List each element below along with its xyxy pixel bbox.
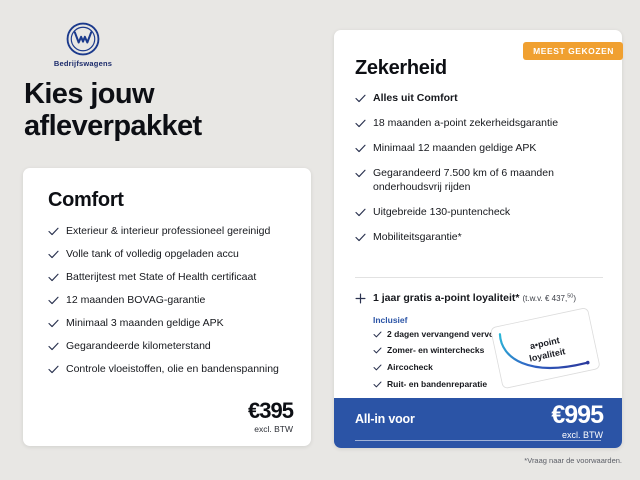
list-item: Uitgebreide 130-puntencheck: [355, 206, 605, 220]
loyalty-title-row: 1 jaar gratis a-point loyaliteit*(t.w.v.…: [355, 292, 607, 306]
plus-icon: [355, 293, 366, 304]
brand-sub-label: Bedrijfswagens: [33, 59, 133, 68]
comfort-package-card[interactable]: Comfort Exterieur & interieur profession…: [23, 168, 311, 446]
included-label-item: Zomer- en winterchecks: [387, 345, 484, 355]
zekerheid-card-title: Zekerheid: [355, 57, 447, 80]
check-icon: [355, 144, 366, 153]
page-title-line1: Kies jouw: [24, 78, 314, 110]
footer-rule: [355, 440, 601, 441]
check-icon: [355, 169, 366, 178]
zekerheid-price-note: excl. BTW: [551, 430, 603, 440]
list-item: Minimaal 3 maanden geldige APK: [48, 317, 288, 331]
list-item: Batterijtest met State of Health certifi…: [48, 271, 288, 285]
feature-label: 12 maanden BOVAG-garantie: [66, 294, 205, 306]
list-item: Gegarandeerd 7.500 km of 6 maanden onder…: [355, 167, 605, 195]
page-title: Kies jouw afleverpakket: [24, 78, 314, 143]
feature-label: Uitgebreide 130-puntencheck: [373, 206, 510, 218]
list-item: Volle tank of volledig opgeladen accu: [48, 248, 288, 262]
included-label-item: Ruit- en bandenreparatie: [387, 379, 487, 389]
feature-label: Minimaal 3 maanden geldige APK: [66, 317, 224, 329]
check-icon: [373, 364, 382, 371]
list-item: 18 maanden a-point zekerheidsgarantie: [355, 117, 605, 131]
check-icon: [355, 119, 366, 128]
included-label-item: Aircocheck: [387, 362, 433, 372]
feature-label: Mobiliteitsgarantie*: [373, 231, 462, 243]
check-icon: [373, 347, 382, 354]
zekerheid-feature-list: Alles uit Comfort 18 maanden a-point zek…: [355, 92, 605, 256]
check-icon: [48, 319, 59, 328]
list-item: Mobiliteitsgarantie*: [355, 231, 605, 245]
check-icon: [48, 365, 59, 374]
zekerheid-price-block: €995 excl. BTW: [551, 403, 603, 440]
list-item: Minimaal 12 maanden geldige APK: [355, 142, 605, 156]
check-icon: [48, 273, 59, 282]
feature-label: Minimaal 12 maanden geldige APK: [373, 142, 536, 154]
check-icon: [355, 233, 366, 242]
comfort-price-note: excl. BTW: [248, 424, 293, 434]
list-item: 12 maanden BOVAG-garantie: [48, 294, 288, 308]
list-item: Gegarandeerde kilometerstand: [48, 340, 288, 354]
feature-label: Gegarandeerd 7.500 km of 6 maanden onder…: [373, 167, 554, 193]
section-divider: [355, 277, 603, 278]
list-item: Controle vloeistoffen, olie en bandenspa…: [48, 363, 288, 377]
check-icon: [355, 94, 366, 103]
zekerheid-package-card[interactable]: MEEST GEKOZEN Zekerheid Alles uit Comfor…: [334, 30, 622, 448]
comfort-card-title: Comfort: [48, 189, 124, 212]
feature-label: Exterieur & interieur professioneel gere…: [66, 225, 270, 237]
feature-label: Batterijtest met State of Health certifi…: [66, 271, 256, 283]
feature-label: Controle vloeistoffen, olie en bandenspa…: [66, 363, 279, 375]
brand-logo-block: Bedrijfswagens: [33, 22, 133, 68]
check-icon: [373, 381, 382, 388]
list-item: Exterieur & interieur professioneel gere…: [48, 225, 288, 239]
loyalty-title: 1 jaar gratis a-point loyaliteit*: [373, 292, 519, 304]
check-icon: [48, 342, 59, 351]
feature-label: Alles uit Comfort: [373, 92, 458, 104]
vw-roundel-logo-icon: [66, 22, 100, 56]
list-item: Alles uit Comfort: [355, 92, 605, 106]
comfort-price-block: €395 excl. BTW: [248, 400, 293, 434]
check-icon: [48, 296, 59, 305]
feature-label: 18 maanden a-point zekerheidsgarantie: [373, 117, 558, 129]
check-icon: [373, 331, 382, 338]
comfort-price-amount: €395: [248, 400, 293, 422]
allin-footer-bar: All-in voor €995 excl. BTW: [334, 398, 622, 448]
loyalty-value-prefix: (t.w.v. € 437,: [522, 294, 567, 303]
loyalty-value: (t.w.v. € 437,50): [522, 294, 576, 303]
loyalty-value-suffix: ): [573, 294, 576, 303]
most-chosen-badge: MEEST GEKOZEN: [523, 42, 623, 60]
check-icon: [355, 208, 366, 217]
zekerheid-price-amount: €995: [551, 403, 603, 428]
page-title-line2: afleverpakket: [24, 110, 314, 142]
page-footnote: *Vraag naar de voorwaarden.: [524, 456, 622, 465]
offer-page: Bedrijfswagens Kies jouw afleverpakket C…: [0, 0, 640, 480]
feature-label: Gegarandeerde kilometerstand: [66, 340, 211, 352]
check-icon: [48, 250, 59, 259]
feature-label: Volle tank of volledig opgeladen accu: [66, 248, 239, 260]
allin-label: All-in voor: [355, 412, 415, 426]
check-icon: [48, 227, 59, 236]
included-label-item: 2 dagen vervangend vervoer: [387, 329, 502, 339]
comfort-feature-list: Exterieur & interieur professioneel gere…: [48, 225, 288, 386]
